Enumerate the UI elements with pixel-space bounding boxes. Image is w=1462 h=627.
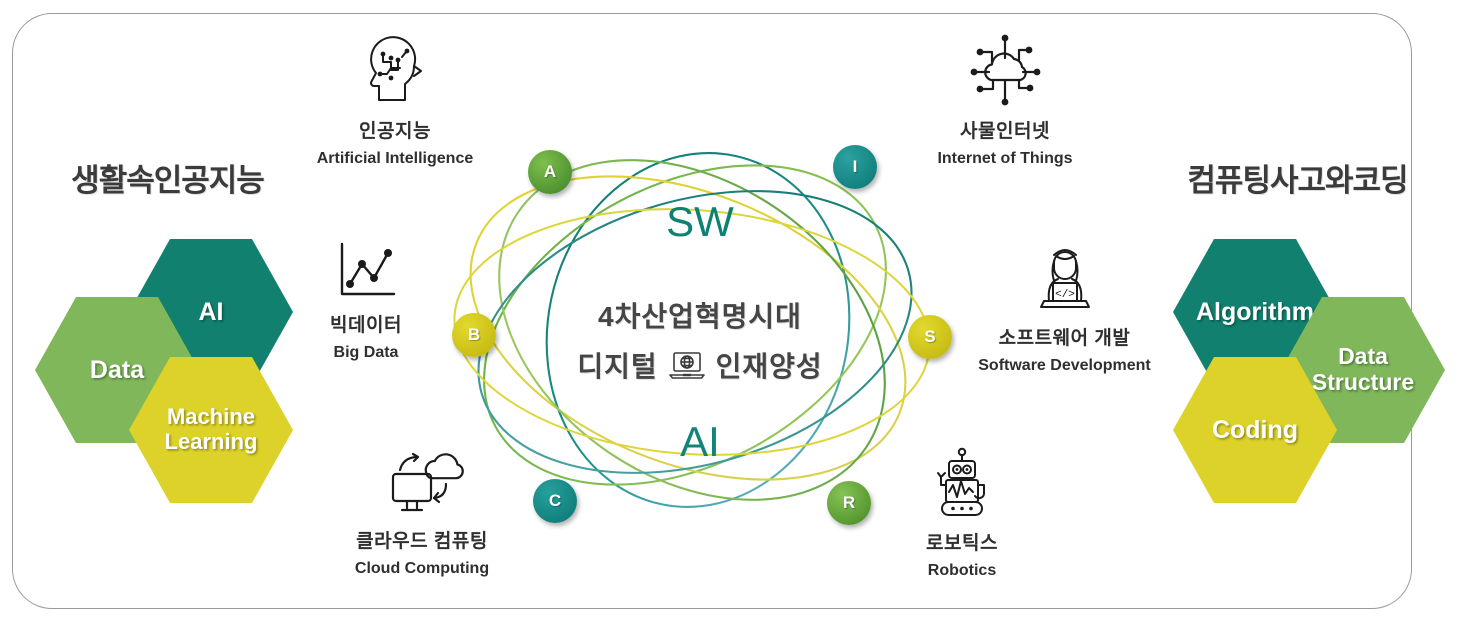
brain-circuit-head-icon <box>290 28 500 110</box>
topic-ai-ko: 인공지능 <box>290 116 500 143</box>
line-chart-icon <box>266 222 466 304</box>
topic-bd-ko: 빅데이터 <box>266 310 466 337</box>
badge-r-letter: R <box>843 493 855 513</box>
center-line1: 4차산업혁명시대 <box>520 295 880 335</box>
laptop-globe-icon <box>667 350 707 380</box>
hex-ml-line1: Machine <box>167 404 255 429</box>
center-line2: 디지털 인재양성 <box>520 345 880 385</box>
badge-s-letter: S <box>924 327 935 347</box>
topic-artificial-intelligence[interactable]: 인공지능 Artificial Intelligence <box>290 28 500 168</box>
hex-algorithm-label: Algorithm <box>1196 298 1314 326</box>
cloud-monitor-sync-icon <box>317 438 527 520</box>
topic-rb-ko: 로보틱스 <box>857 528 1067 555</box>
badge-i-letter: I <box>853 157 858 177</box>
robot-icon <box>857 440 1067 522</box>
badge-s[interactable]: S <box>908 315 952 359</box>
badge-c-letter: C <box>549 491 561 511</box>
topic-sd-ko: 소프트웨어 개발 <box>962 323 1167 350</box>
badge-c[interactable]: C <box>533 479 577 523</box>
badge-i[interactable]: I <box>833 145 877 189</box>
hex-ai-label: AI <box>199 298 224 326</box>
topic-cc-ko: 클라우드 컴퓨팅 <box>317 526 527 553</box>
topic-ai-en: Artificial Intelligence <box>290 150 500 168</box>
topic-iot-ko: 사물인터넷 <box>900 116 1110 143</box>
topic-bd-en: Big Data <box>266 344 466 362</box>
topic-cc-en: Cloud Computing <box>317 560 527 578</box>
center-sw-label: SW <box>560 198 840 246</box>
right-cluster-title: 컴퓨팅사고와코딩 <box>1160 155 1435 200</box>
topic-software-development[interactable]: </> 소프트웨어 개발 Software Development <box>962 235 1167 375</box>
badge-a[interactable]: A <box>528 150 572 194</box>
hex-data-structure-label: Data Structure <box>1312 344 1414 396</box>
topic-robotics[interactable]: 로보틱스 Robotics <box>857 440 1067 580</box>
badge-a-letter: A <box>544 162 556 182</box>
developer-laptop-icon: </> <box>962 235 1167 317</box>
hex-ml-line2: Learning <box>165 429 258 454</box>
svg-text:</>: </> <box>1055 289 1075 301</box>
hex-coding-label: Coding <box>1212 416 1298 444</box>
topic-big-data[interactable]: 빅데이터 Big Data <box>266 222 466 362</box>
infographic-canvas: 생활속인공지능 AI Data Machine Learning 컴퓨팅사고와코… <box>0 0 1462 627</box>
hex-ds-line2: Structure <box>1312 369 1414 395</box>
center-line2-right: 인재양성 <box>716 345 823 385</box>
hex-data-label: Data <box>90 356 144 384</box>
left-cluster-title: 생활속인공지능 <box>30 155 305 200</box>
hex-machine-learning-label: Machine Learning <box>165 405 258 454</box>
hex-ds-line1: Data <box>1338 343 1388 369</box>
center-line2-left: 디지털 <box>577 345 657 385</box>
cloud-network-nodes-icon <box>900 28 1110 110</box>
topic-sd-en: Software Development <box>962 357 1167 375</box>
center-ai-label: AI <box>560 418 840 466</box>
topic-iot-en: Internet of Things <box>900 150 1110 168</box>
badge-b-letter: B <box>468 325 480 345</box>
topic-cloud-computing[interactable]: 클라우드 컴퓨팅 Cloud Computing <box>317 438 527 578</box>
topic-rb-en: Robotics <box>857 562 1067 580</box>
topic-internet-of-things[interactable]: 사물인터넷 Internet of Things <box>900 28 1110 168</box>
